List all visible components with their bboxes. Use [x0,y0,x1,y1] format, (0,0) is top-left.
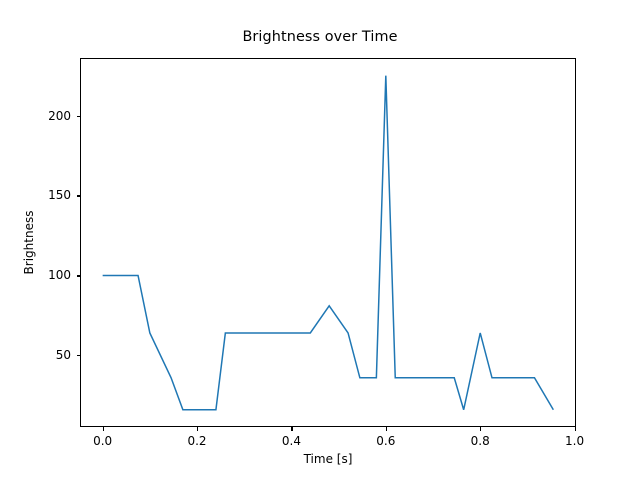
x-tick-label: 0.8 [471,434,490,448]
x-tick-mark [197,427,198,431]
x-tick-label: 1.0 [565,434,584,448]
y-tick-mark [77,195,81,196]
x-tick-mark [386,427,387,431]
y-tick-mark [77,275,81,276]
x-tick-mark [575,427,576,431]
x-tick-label: 0.4 [282,434,301,448]
y-tick-mark [77,355,81,356]
y-tick-mark [77,116,81,117]
chart-figure: Brightness over Time 50100150200 0.00.20… [0,0,640,480]
x-tick-mark [291,427,292,431]
plot-area [80,58,576,427]
y-axis-label: Brightness [22,58,36,427]
x-tick-mark [103,427,104,431]
x-tick-mark [480,427,481,431]
x-tick-label: 0.0 [93,434,112,448]
x-tick-label: 0.2 [187,434,206,448]
x-tick-label: 0.6 [376,434,395,448]
chart-title: Brightness over Time [0,29,640,45]
x-axis-label: Time [s] [80,452,576,466]
data-line-brightness [103,76,554,410]
